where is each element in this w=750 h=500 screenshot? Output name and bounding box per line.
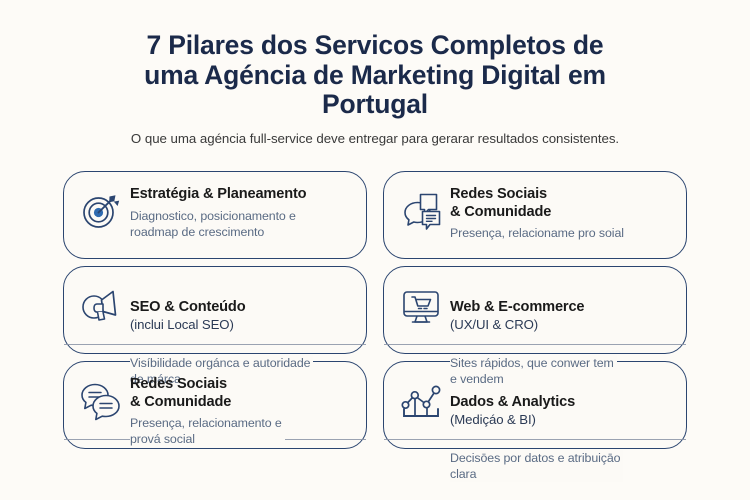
card-title-main: Dados & Analytics bbox=[450, 394, 575, 410]
card-title: Dados & Analytics (Mediçáo & BI) bbox=[450, 376, 672, 446]
card-subtitle: (inclui Local SEO) bbox=[130, 316, 352, 333]
line-chart-icon bbox=[398, 378, 444, 424]
page-subtitle: O que uma agéncia full-service deve entr… bbox=[0, 130, 750, 148]
pillars-grid: Estratégia & Planeamento Diagnostico, po… bbox=[63, 171, 687, 449]
page-title-line-2: uma Agéncia de Marketing Digital em bbox=[95, 61, 655, 91]
card-description: Presença, relacioname pro soial bbox=[450, 225, 672, 241]
monitor-cart-icon bbox=[398, 283, 444, 329]
card-title: Redes Sociais & Comunidade bbox=[130, 376, 352, 411]
header: 7 Pilares dos Servicos Completos de uma … bbox=[0, 0, 750, 148]
page-title-line-1: 7 Pilares dos Servicos Completos de bbox=[95, 31, 655, 61]
pillar-card-seo[interactable]: SEO & Conteúdo (inclui Local SEO) Visíbi… bbox=[63, 266, 367, 354]
card-title: Web & E-commerce (UX/UI & CRO) bbox=[450, 281, 672, 351]
card-text: Redes Sociais & Comunidade Presença, rel… bbox=[450, 184, 672, 241]
card-description: Decisōes por datos e atribuiçāo clara bbox=[450, 450, 623, 482]
pillar-card-dados-analytics[interactable]: Dados & Analytics (Mediçáo & BI) Decisōe… bbox=[383, 361, 687, 449]
card-text: Redes Sociais & Comunidade Presença, rel… bbox=[130, 374, 352, 448]
page-title: 7 Pilares dos Servicos Completos de uma … bbox=[95, 31, 655, 120]
card-text: Estratégia & Planeamento Diagnostico, po… bbox=[130, 184, 352, 240]
card-title-main: SEO & Conteúdo bbox=[130, 299, 245, 315]
pillar-card-estrategia[interactable]: Estratégia & Planeamento Diagnostico, po… bbox=[63, 171, 367, 259]
pillar-card-redes-sociais-bottom[interactable]: Redes Sociais & Comunidade Presença, rel… bbox=[63, 361, 367, 449]
page-title-line-3: Portugal bbox=[95, 90, 655, 120]
infographic-page: 7 Pilares dos Servicos Completos de uma … bbox=[0, 0, 750, 500]
chat-bubbles-round-icon bbox=[78, 378, 124, 424]
chat-bubbles-square-icon bbox=[398, 188, 444, 234]
card-subtitle: (UX/UI & CRO) bbox=[450, 316, 672, 333]
card-subtitle: (Mediçáo & BI) bbox=[450, 411, 672, 428]
megaphone-icon bbox=[78, 283, 124, 329]
card-text: SEO & Conteúdo (inclui Local SEO) Visíbi… bbox=[130, 279, 352, 388]
card-text: Web & E-commerce (UX/UI & CRO) Sites ráp… bbox=[450, 279, 672, 388]
card-description: Presença, relacionamento e prová social bbox=[130, 415, 285, 447]
card-title: Redes Sociais & Comunidade bbox=[450, 186, 672, 221]
card-text: Dados & Analytics (Mediçáo & BI) Decisōe… bbox=[450, 374, 672, 483]
card-description: Diagnostico, posicionamento e roadmap de… bbox=[130, 208, 352, 240]
card-title: Estratégia & Planeamento bbox=[130, 186, 352, 204]
pillar-card-web-ecommerce[interactable]: Web & E-commerce (UX/UI & CRO) Sites ráp… bbox=[383, 266, 687, 354]
card-title-main: Web & E-commerce bbox=[450, 299, 584, 315]
target-dart-icon bbox=[78, 188, 124, 234]
card-title: SEO & Conteúdo (inclui Local SEO) bbox=[130, 281, 352, 351]
pillar-card-redes-sociais-top[interactable]: Redes Sociais & Comunidade Presença, rel… bbox=[383, 171, 687, 259]
